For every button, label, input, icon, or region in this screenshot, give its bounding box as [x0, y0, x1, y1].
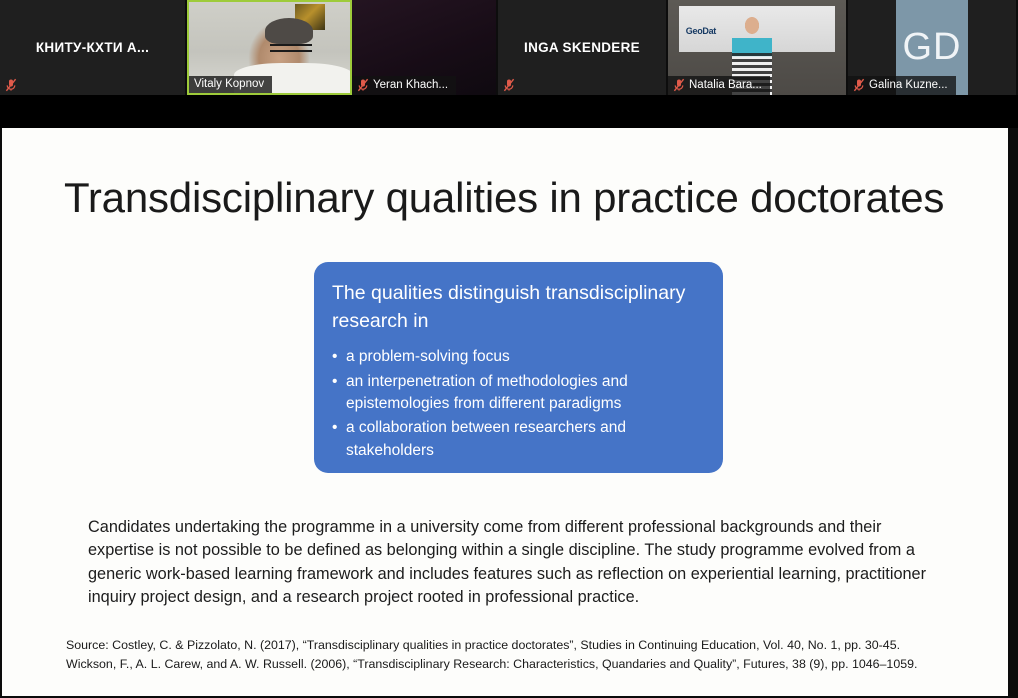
- participant-name-knitu: КНИТУ-КХТИ А...: [28, 40, 157, 55]
- participant-tile-knitu[interactable]: КНИТУ-КХТИ А...: [0, 0, 187, 95]
- list-item-label: an interpenetration of methodologies and…: [346, 373, 628, 412]
- participant-name-yeran-khach: Yeran Khach...: [373, 79, 448, 91]
- list-item: • a problem-solving focus: [330, 346, 701, 368]
- participant-filmstrip: КНИТУ-КХТИ А... Vitaly Kopnov: [0, 0, 1018, 95]
- participant-name-natalia-bara: Natalia Bara...: [689, 79, 762, 91]
- letterbox-band: [0, 95, 1018, 128]
- qualities-callout-box: The qualities distinguish transdisciplin…: [314, 262, 723, 473]
- list-item: • a collaboration between researchers an…: [330, 417, 701, 462]
- shared-slide: Transdisciplinary qualities in practice …: [2, 128, 1008, 696]
- video-overlay-text: GeoDat: [686, 26, 716, 36]
- participant-status-inga-skendere: [498, 76, 523, 95]
- participant-tile-inga-skendere[interactable]: INGA SKENDERE: [498, 0, 668, 95]
- participant-tile-natalia-bara[interactable]: GeoDat Natalia Bara...: [668, 0, 848, 95]
- callout-bullet-list: • a problem-solving focus • an interpene…: [330, 346, 701, 462]
- slide-sources: Source: Costley, C. & Pizzolato, N. (201…: [66, 636, 1016, 674]
- slide-title: Transdisciplinary qualities in practice …: [64, 176, 984, 220]
- source-line-2: Wickson, F., A. L. Carew, and A. W. Russ…: [66, 655, 1016, 674]
- participant-status-vitaly-kopnov: Vitaly Kopnov: [189, 76, 272, 93]
- bullet-glyph: •: [332, 371, 337, 393]
- video-detail: [265, 18, 313, 44]
- mic-muted-icon: [673, 78, 685, 92]
- participant-name-galina-kuzne: Galina Kuzne...: [869, 79, 948, 91]
- participant-tile-galina-kuzne[interactable]: GD Galina Kuzne...: [848, 0, 1018, 95]
- source-line-1: Source: Costley, C. & Pizzolato, N. (201…: [66, 636, 1016, 655]
- participant-tile-vitaly-kopnov[interactable]: Vitaly Kopnov: [187, 0, 352, 95]
- mic-muted-icon: [357, 78, 369, 92]
- callout-heading: The qualities distinguish transdisciplin…: [330, 280, 701, 335]
- participant-status-knitu: [0, 76, 25, 95]
- list-item-label: a problem-solving focus: [346, 348, 510, 365]
- participant-status-yeran-khach: Yeran Khach...: [352, 76, 456, 95]
- mic-muted-icon: [503, 78, 515, 92]
- mic-muted-icon: [853, 78, 865, 92]
- participant-name-inga-skendere: INGA SKENDERE: [516, 40, 648, 55]
- bullet-glyph: •: [332, 346, 337, 368]
- list-item-label: a collaboration between researchers and …: [346, 419, 626, 458]
- participant-name-vitaly-kopnov: Vitaly Kopnov: [194, 78, 264, 90]
- list-item: • an interpenetration of methodologies a…: [330, 371, 701, 416]
- bullet-glyph: •: [332, 417, 337, 439]
- participant-status-galina-kuzne: Galina Kuzne...: [848, 76, 956, 95]
- mic-muted-icon: [5, 78, 17, 92]
- video-detail: [270, 44, 312, 52]
- participant-status-natalia-bara: Natalia Bara...: [668, 76, 770, 95]
- participant-tile-yeran-khach[interactable]: Yeran Khach...: [352, 0, 498, 95]
- slide-body-paragraph: Candidates undertaking the programme in …: [88, 516, 932, 609]
